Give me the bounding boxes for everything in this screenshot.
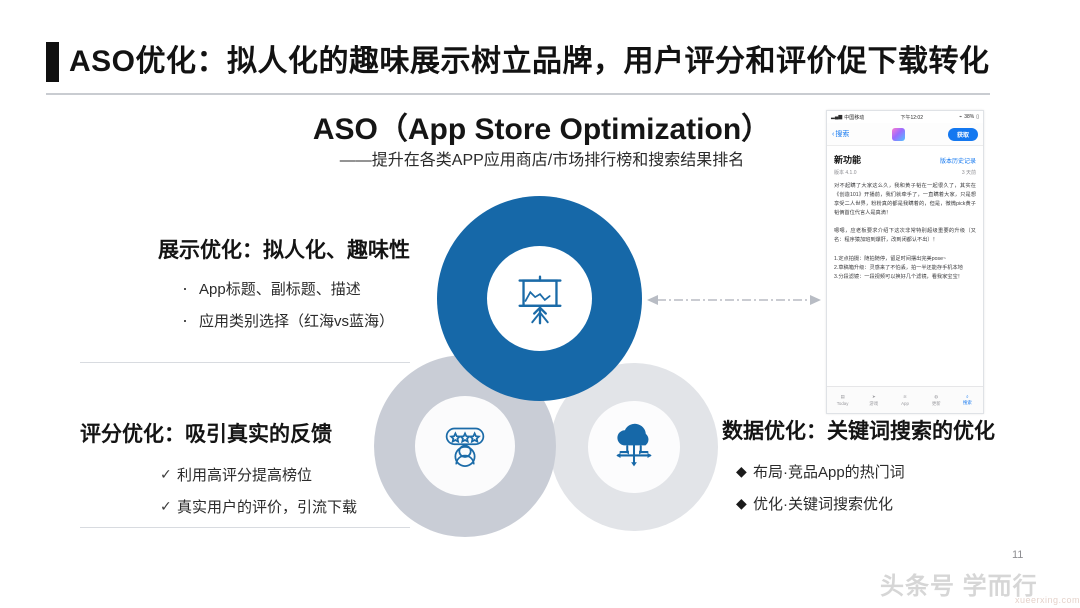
version-history-link[interactable]: 版本历史记录: [940, 156, 976, 165]
title-accent-bar: [46, 42, 59, 82]
rating-circle-hole: [415, 396, 515, 496]
status-left: ▂▄▆ 中国移动: [831, 114, 864, 121]
watermark-url: xueerxing.com: [880, 595, 1080, 605]
tab-updates[interactable]: ◍ 更新: [921, 394, 952, 407]
list-item-label: 应用类别选择（红海vs蓝海）: [199, 310, 394, 331]
double-arrow-dashdot-icon: [645, 292, 823, 308]
list-item: ◆ 布局·竞品App的热门词: [736, 461, 995, 482]
display-circle-hole: [487, 246, 592, 351]
title-divider: [46, 93, 990, 95]
list-item-label: App标题、副标题、描述: [199, 278, 361, 299]
battery-icon: ▯: [976, 114, 979, 120]
clock-label: 下午12:02: [900, 114, 923, 121]
tab-label: 游戏: [869, 401, 878, 407]
list-item: · App标题、副标题、描述: [182, 278, 410, 299]
aso-heading: ASO（App Store Optimization）: [282, 104, 802, 148]
block-data-optimization: 数据优化：关键词搜索的优化 ◆ 布局·竞品App的热门词 ◆ 优化·关键词搜索优…: [722, 415, 995, 514]
block-display-items: · App标题、副标题、描述 · 应用类别选择（红海vs蓝海）: [182, 278, 410, 331]
release-note-list: 1.定点拍摄：随拍随停，留足时间摆出完美pose~ 2.草稿箱升级：灵感来了不怕…: [834, 255, 976, 282]
block-rating-items: ✓ 利用高评分提高榜位 ✓ 真实用户的评价，引流下载: [160, 464, 357, 517]
list-item-label: 利用高评分提高榜位: [177, 464, 312, 485]
updated-label: 3 天前: [962, 169, 976, 176]
tab-label: 更新: [932, 401, 941, 407]
app-stack-icon: ≋: [903, 394, 907, 400]
tab-label: 搜索: [963, 400, 972, 406]
block-data-heading: 数据优化：关键词搜索的优化: [722, 415, 995, 445]
list-item: ◆ 优化·关键词搜索优化: [736, 493, 995, 514]
get-button[interactable]: 获取: [948, 128, 978, 141]
list-item: ✓ 利用高评分提高榜位: [160, 464, 357, 485]
check-icon: ✓: [160, 498, 177, 515]
whats-new-header: 新功能 版本历史记录: [834, 153, 976, 166]
block-rating-optimization: 评分优化：吸引真实的反馈 ✓ 利用高评分提高榜位 ✓ 真实用户的评价，引流下载: [80, 418, 357, 517]
watermark: 头条号 学而行 xueerxing.com: [880, 566, 1080, 606]
carrier-label: 中国移动: [844, 114, 864, 121]
bullet-dot-icon: ·: [182, 281, 199, 296]
back-button[interactable]: ‹ 搜索: [832, 129, 849, 139]
block-rating-divider: [80, 527, 410, 528]
phone-screenshot: ▂▄▆ 中国移动 下午12:02 ⌁ 38% ▯ ‹ 搜索 获取 新功能 版本历…: [826, 110, 984, 414]
today-icon: ▤: [841, 394, 845, 400]
tab-label: Today: [837, 401, 849, 406]
game-rocket-icon: ➤: [872, 394, 876, 400]
cloud-circle-hole: [588, 401, 680, 493]
status-right: ⌁ 38% ▯: [959, 114, 979, 120]
page-title: ASO优化：拟人化的趣味展示树立品牌，用户评分和评价促下载转化: [69, 47, 990, 77]
block-display-divider: [80, 362, 410, 363]
display-circle: [437, 196, 642, 401]
watermark-text: 头条号 学而行: [880, 566, 1080, 601]
release-note-paragraph: 嗯嗯，应老板要求介绍下这次非常特别超级重要的升级（又名：程序猿加班到爆肝，改到闭…: [834, 227, 976, 245]
back-label: 搜索: [835, 129, 849, 139]
list-item-label: 真实用户的评价，引流下载: [177, 496, 357, 517]
check-icon: ✓: [160, 466, 177, 483]
tab-apps[interactable]: ≋ App: [889, 394, 920, 406]
tab-games[interactable]: ➤ 游戏: [858, 394, 889, 407]
diamond-icon: ◆: [736, 495, 753, 512]
aso-subheading: ——提升在各类APP应用商店/市场排行榜和搜索结果排名: [262, 146, 822, 170]
slide-title: ASO优化：拟人化的趣味展示树立品牌，用户评分和评价促下载转化: [46, 42, 990, 82]
phone-content: 新功能 版本历史记录 版本 4.1.0 3 天前 对不起瞒了大家这么久，我和黄子…: [827, 146, 983, 389]
section-title: 新功能: [834, 153, 861, 166]
page-number: 11: [1012, 549, 1023, 561]
release-note-paragraph: 对不起瞒了大家这么久，我和黄子韬在一起很久了，其实在《创造101》开播前，我们就…: [834, 182, 976, 218]
block-display-heading: 展示优化：拟人化、趣味性: [158, 234, 410, 264]
list-item-label: 布局·竞品App的热门词: [753, 461, 905, 482]
diamond-icon: ◆: [736, 463, 753, 480]
wifi-icon: ⌁: [959, 114, 962, 120]
version-label: 版本 4.1.0: [834, 169, 857, 176]
phone-tab-bar: ▤ Today ➤ 游戏 ≋ App ◍ 更新 ⌕ 搜索: [827, 386, 983, 413]
block-display-optimization: 展示优化：拟人化、趣味性 · App标题、副标题、描述 · 应用类别选择（红海v…: [158, 234, 410, 331]
tab-label: App: [901, 401, 909, 406]
list-item: ✓ 真实用户的评价，引流下载: [160, 496, 357, 517]
tab-today[interactable]: ▤ Today: [827, 394, 858, 406]
bullet-dot-icon: ·: [182, 313, 199, 328]
update-icon: ◍: [934, 394, 938, 400]
phone-nav-bar: ‹ 搜索 获取: [827, 123, 983, 146]
tab-search[interactable]: ⌕ 搜索: [952, 394, 983, 406]
list-item-label: 优化·关键词搜索优化: [753, 493, 893, 514]
app-icon: [892, 128, 905, 141]
battery-label: 38%: [964, 114, 974, 120]
phone-status-bar: ▂▄▆ 中国移动 下午12:02 ⌁ 38% ▯: [827, 111, 983, 123]
version-row: 版本 4.1.0 3 天前: [834, 169, 976, 176]
list-item: · 应用类别选择（红海vs蓝海）: [182, 310, 410, 331]
chevron-left-icon: ‹: [832, 131, 834, 138]
search-icon: ⌕: [966, 394, 968, 399]
slide-canvas: ASO优化：拟人化的趣味展示树立品牌，用户评分和评价促下载转化 ASO（App …: [0, 0, 1080, 608]
block-rating-heading: 评分优化：吸引真实的反馈: [80, 418, 357, 448]
block-data-items: ◆ 布局·竞品App的热门词 ◆ 优化·关键词搜索优化: [736, 461, 995, 514]
signal-icon: ▂▄▆: [831, 114, 842, 120]
